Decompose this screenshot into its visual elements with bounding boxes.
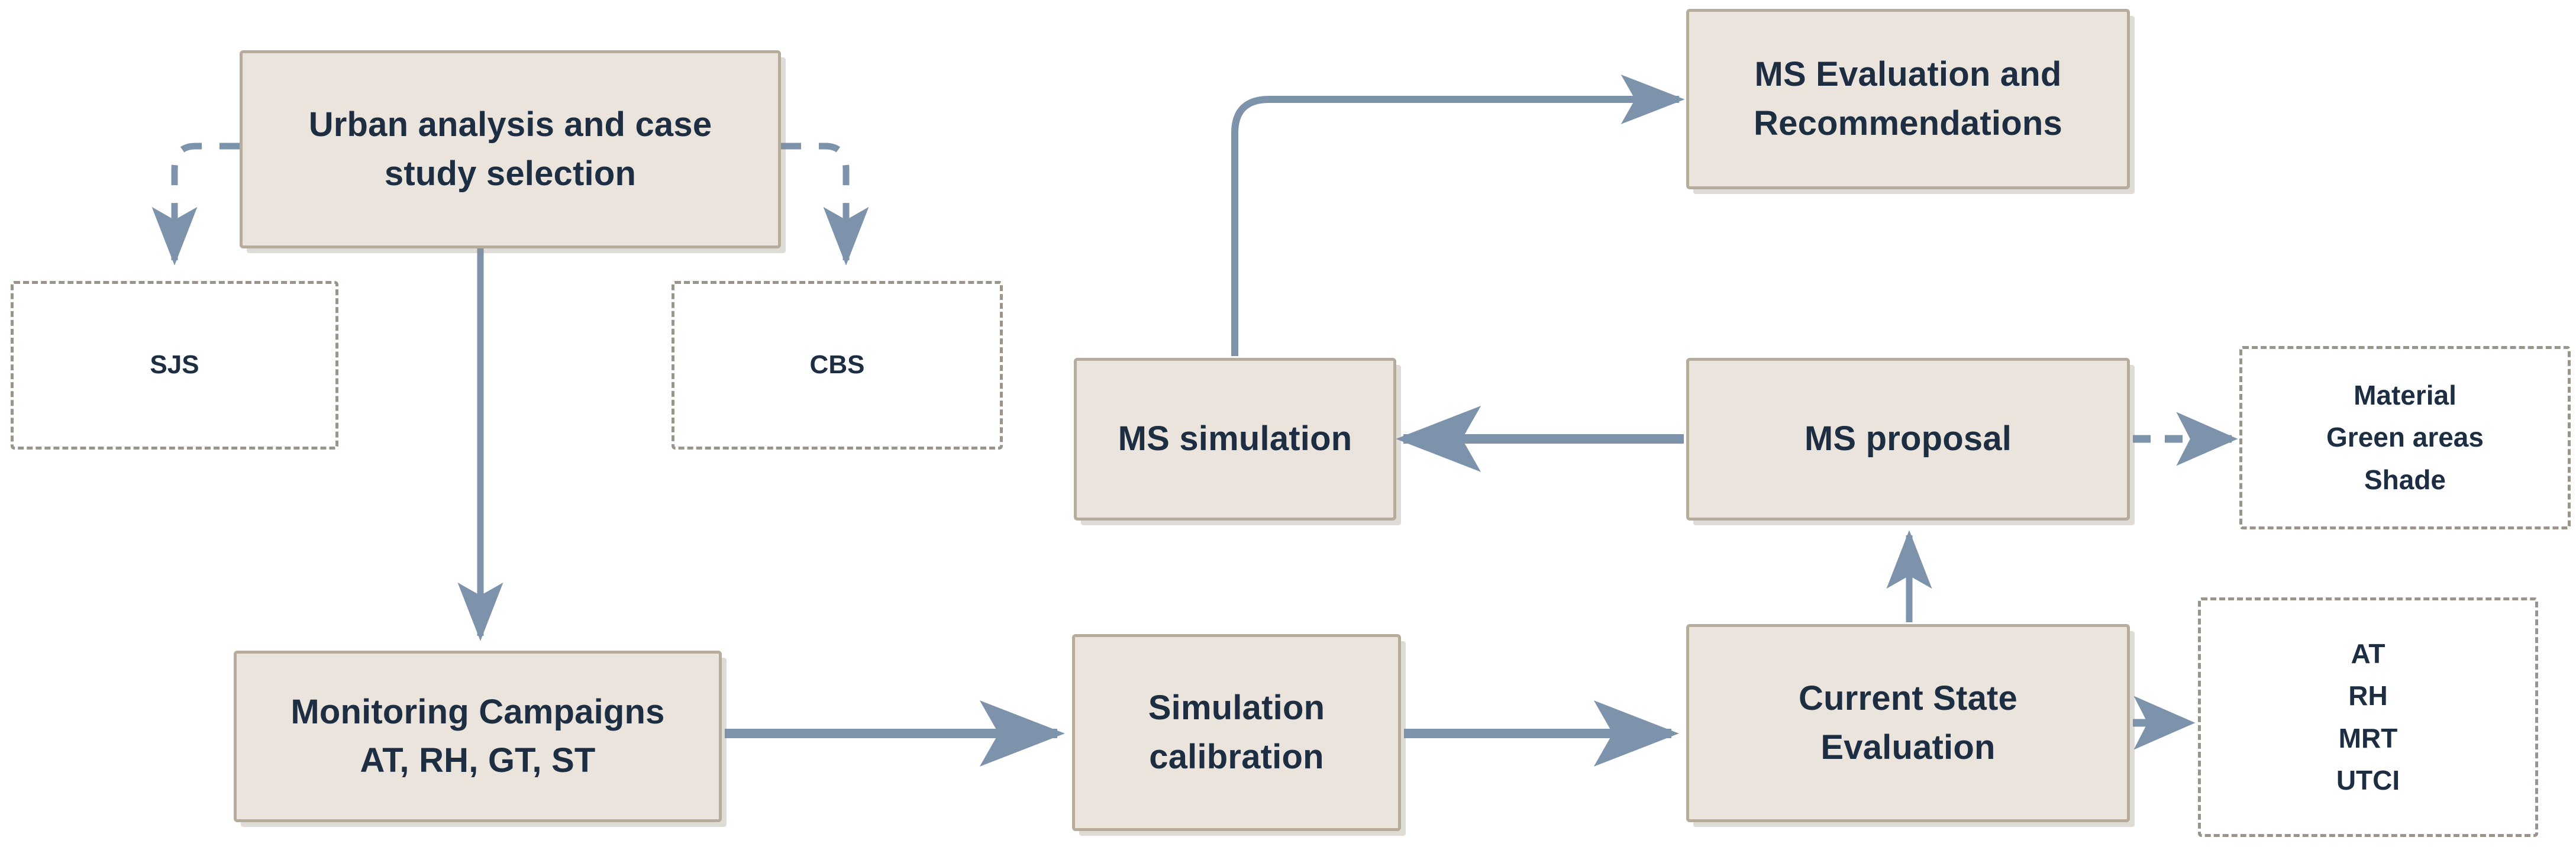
annotation-cbs-label: CBS [810,345,865,385]
node-ms-simulation[interactable]: MS simulation [1074,358,1396,521]
node-simulation-calibration-label: Simulation calibration [1148,684,1325,781]
flowchart-canvas: Urban analysis and case study selection … [0,0,2576,850]
annotation-cs-params-label: AT RH MRT UTCI [2336,633,2400,801]
node-ms-proposal[interactable]: MS proposal [1686,358,2130,521]
annotation-cs-params[interactable]: AT RH MRT UTCI [2198,597,2538,837]
node-ms-evaluation-label: MS Evaluation and Recommendations [1754,50,2062,148]
edge-urban-analysis-to-cbs [781,146,846,260]
annotation-ms-params[interactable]: Material Green areas Shade [2239,346,2571,529]
node-current-state-evaluation[interactable]: Current State Evaluation [1686,624,2130,822]
node-ms-proposal-label: MS proposal [1805,415,2012,463]
node-current-state-evaluation-label: Current State Evaluation [1799,674,2017,772]
node-urban-analysis[interactable]: Urban analysis and case study selection [240,50,781,248]
edge-ms-simulation-to-ms-evaluation [1235,99,1679,356]
node-monitoring-campaigns[interactable]: Monitoring Campaigns AT, RH, GT, ST [234,651,722,822]
node-urban-analysis-label: Urban analysis and case study selection [309,101,712,198]
annotation-cbs[interactable]: CBS [672,281,1003,450]
annotation-ms-params-label: Material Green areas Shade [2326,374,2484,501]
edge-urban-analysis-to-sjs [175,146,240,260]
node-monitoring-campaigns-label: Monitoring Campaigns AT, RH, GT, ST [290,688,664,786]
node-simulation-calibration[interactable]: Simulation calibration [1072,634,1401,831]
node-ms-simulation-label: MS simulation [1118,415,1352,463]
annotation-sjs-label: SJS [150,345,199,385]
node-ms-evaluation[interactable]: MS Evaluation and Recommendations [1686,9,2130,189]
annotation-sjs[interactable]: SJS [11,281,338,450]
